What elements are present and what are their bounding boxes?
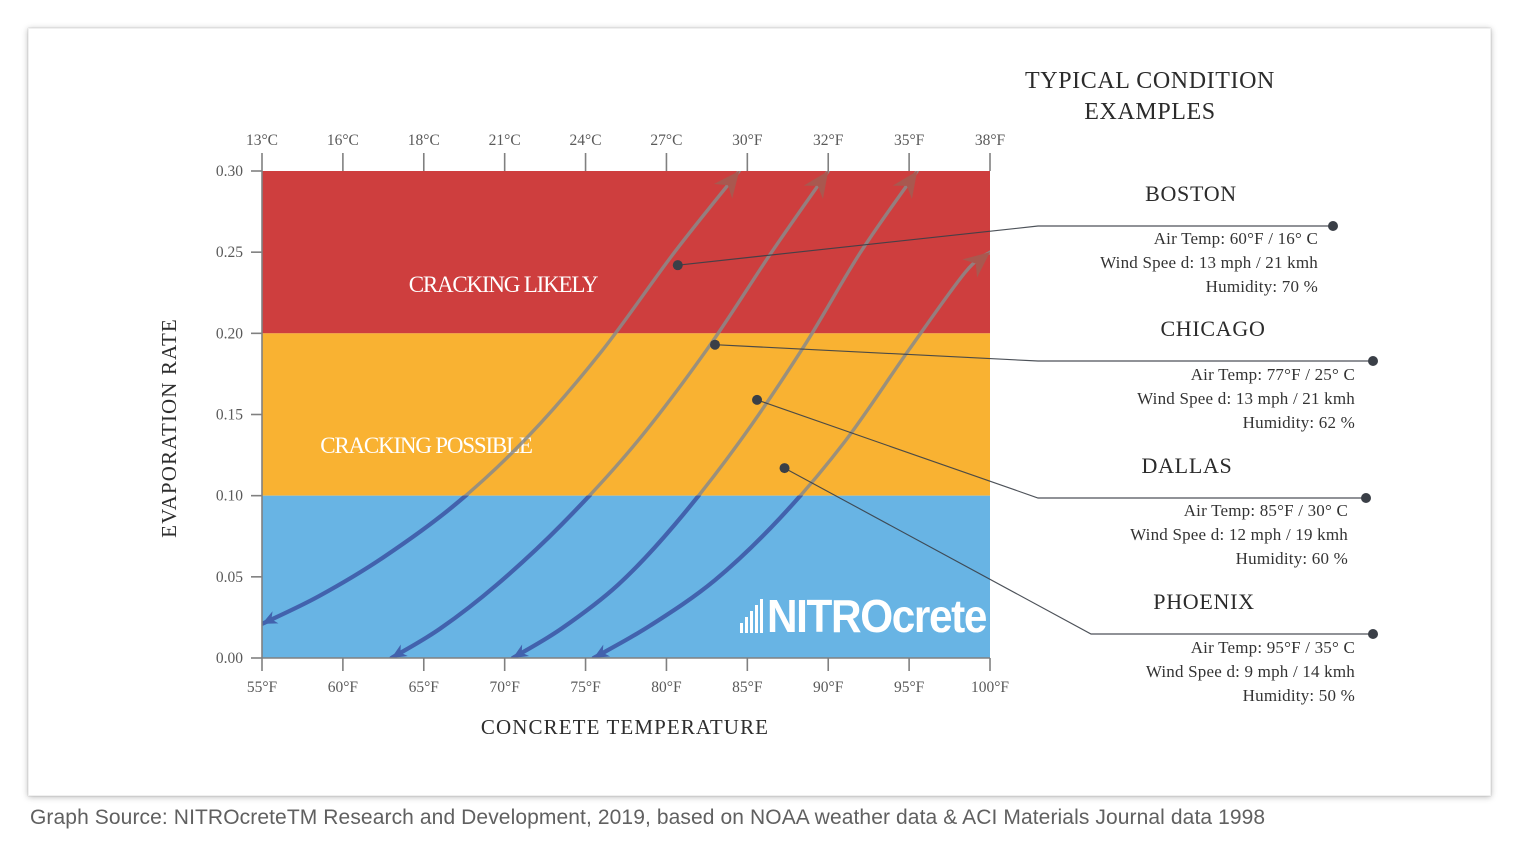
- panel-title-line1: TYPICAL CONDITION: [1025, 68, 1275, 94]
- city-name-dallas: DALLAS: [1142, 453, 1233, 478]
- city-airtemp-phoenix: Air Temp: 95°F / 35° C: [1191, 638, 1355, 657]
- zone-bands: [262, 171, 990, 658]
- x-tick-label-top: 24°C: [570, 132, 602, 149]
- x-tick-label-bottom: 65°F: [409, 679, 440, 696]
- x-tick-label-bottom: 80°F: [651, 679, 682, 696]
- callout-dot-plot-phoenix[interactable]: [780, 463, 790, 473]
- x-tick-label-bottom: 85°F: [732, 679, 763, 696]
- city-name-phoenix: PHOENIX: [1153, 589, 1254, 614]
- city-humidity-dallas: Humidity: 60 %: [1236, 549, 1348, 568]
- callout-dot-panel-dallas[interactable]: [1361, 493, 1371, 503]
- x-tick-label-bottom: 60°F: [328, 679, 359, 696]
- y-tick-label: 0.25: [216, 244, 243, 261]
- city-airtemp-dallas: Air Temp: 85°F / 30° C: [1184, 501, 1348, 520]
- chart-card: CRACKING LIKELY CRACKING POSSIBLE 0.000.…: [28, 28, 1491, 796]
- y-tick-label: 0.00: [216, 650, 243, 667]
- y-axis-title: EVAPORATION RATE: [157, 318, 181, 538]
- city-block-dallas[interactable]: DALLAS Air Temp: 85°F / 30° C Wind Spee …: [1130, 453, 1348, 568]
- x-tick-label-top: 32°F: [813, 132, 844, 149]
- graph-source-caption: Graph Source: NITROcreteTM Research and …: [30, 806, 1470, 830]
- x-tick-label-top: 35°F: [894, 132, 925, 149]
- city-airtemp-chicago: Air Temp: 77°F / 25° C: [1191, 365, 1355, 384]
- city-block-phoenix[interactable]: PHOENIX Air Temp: 95°F / 35° C Wind Spee…: [1146, 589, 1355, 705]
- panel-title-line2: EXAMPLES: [1084, 99, 1215, 125]
- callout-dot-plot-dallas[interactable]: [752, 395, 762, 405]
- x-tick-label-top: 30°F: [732, 132, 763, 149]
- callout-dot-plot-chicago[interactable]: [710, 340, 720, 350]
- callout-dot-panel-boston[interactable]: [1328, 221, 1338, 231]
- city-block-boston[interactable]: BOSTON Air Temp: 60°F / 16° C Wind Spee …: [1100, 181, 1318, 296]
- city-humidity-boston: Humidity: 70 %: [1206, 277, 1318, 296]
- callout-dot-plot-boston[interactable]: [673, 260, 683, 270]
- callout-dot-panel-phoenix[interactable]: [1368, 629, 1378, 639]
- x-tick-label-bottom: 95°F: [894, 679, 925, 696]
- city-name-chicago: CHICAGO: [1160, 316, 1265, 341]
- x-tick-label-bottom: 90°F: [813, 679, 844, 696]
- y-tick-label: 0.20: [216, 325, 243, 342]
- x-tick-label-top: 18°C: [408, 132, 440, 149]
- band-cracking-likely: [262, 171, 990, 333]
- city-wind-phoenix: Wind Spee d: 9 mph / 14 kmh: [1146, 662, 1355, 681]
- city-name-boston: BOSTON: [1145, 181, 1237, 206]
- x-tick-label-bottom: 75°F: [570, 679, 601, 696]
- zone-label-cracking-possible: CRACKING POSSIBLE: [320, 433, 532, 458]
- city-humidity-phoenix: Humidity: 50 %: [1243, 686, 1355, 705]
- y-tick-label: 0.10: [216, 488, 243, 505]
- x-tick-label-top: 13°C: [246, 132, 278, 149]
- city-humidity-chicago: Humidity: 62 %: [1243, 413, 1355, 432]
- zone-label-cracking-likely: CRACKING LIKELY: [409, 272, 599, 297]
- band-cracking-possible: [262, 333, 990, 495]
- x-axis-title: CONCRETE TEMPERATURE: [481, 715, 769, 739]
- city-wind-dallas: Wind Spee d: 12 mph / 19 kmh: [1130, 525, 1348, 544]
- callout-dot-panel-chicago[interactable]: [1368, 356, 1378, 366]
- city-wind-chicago: Wind Spee d: 13 mph / 21 kmh: [1137, 389, 1355, 408]
- y-tick-label: 0.05: [216, 569, 243, 586]
- city-block-chicago[interactable]: CHICAGO Air Temp: 77°F / 25° C Wind Spee…: [1137, 316, 1355, 432]
- x-tick-label-top: 16°C: [327, 132, 359, 149]
- evaporation-rate-chart: CRACKING LIKELY CRACKING POSSIBLE 0.000.…: [28, 28, 1491, 796]
- x-tick-label-bottom: 55°F: [247, 679, 278, 696]
- y-tick-label: 0.30: [216, 163, 243, 180]
- x-tick-label-bottom: 70°F: [490, 679, 521, 696]
- x-tick-label-bottom: 100°F: [971, 679, 1009, 696]
- y-tick-label: 0.15: [216, 407, 243, 424]
- x-tick-label-top: 21°C: [489, 132, 521, 149]
- city-wind-boston: Wind Spee d: 13 mph / 21 kmh: [1100, 253, 1318, 272]
- x-tick-label-top: 38°F: [975, 132, 1006, 149]
- x-tick-label-top: 27°C: [650, 132, 682, 149]
- city-airtemp-boston: Air Temp: 60°F / 16° C: [1154, 229, 1318, 248]
